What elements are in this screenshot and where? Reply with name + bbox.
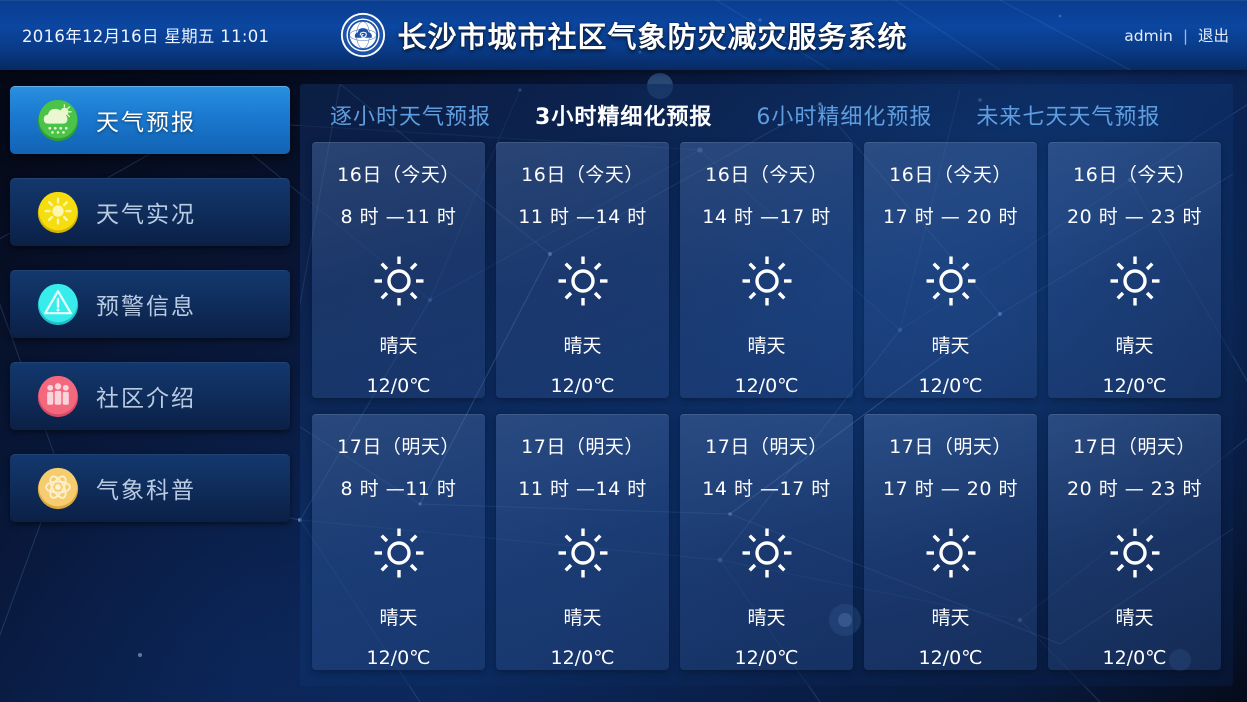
card-temperature: 12/0℃ xyxy=(734,375,798,397)
logout-link[interactable]: 退出 xyxy=(1198,27,1229,45)
sun-icon xyxy=(739,525,795,581)
card-time-range: 20 时 — 23 时 xyxy=(1067,202,1202,229)
forecast-card[interactable]: 17日（明天） 11 时 —14 时 晴天 12/0℃ xyxy=(496,414,669,670)
app-title: 长沙市城市社区气象防灾减灾服务系统 xyxy=(397,14,907,56)
sidebar-item-label: 气象科普 xyxy=(96,471,196,505)
forecast-card[interactable]: 17日（明天） 8 时 —11 时 晴天 12/0℃ xyxy=(312,414,485,670)
card-condition: 晴天 xyxy=(747,331,785,358)
tab-3hour-forecast[interactable]: 3小时精细化预报 xyxy=(513,99,734,131)
sun-icon xyxy=(1107,525,1163,581)
sidebar-item-label: 社区介绍 xyxy=(96,379,196,413)
card-temperature: 12/0℃ xyxy=(1102,375,1166,397)
sidebar-item-meteorology-science[interactable]: 气象科普 xyxy=(10,454,290,522)
sun-icon xyxy=(923,525,979,581)
card-condition: 晴天 xyxy=(1115,603,1153,630)
forecast-card[interactable]: 16日（今天） 17 时 — 20 时 晴天 12/0℃ xyxy=(864,142,1037,398)
card-condition: 晴天 xyxy=(563,331,601,358)
card-time-range: 8 时 —11 时 xyxy=(341,202,457,229)
tab-seven-day-forecast[interactable]: 未来七天天气预报 xyxy=(954,99,1182,131)
sidebar: 天气预报 天气实况 xyxy=(0,70,300,702)
card-date: 16日（今天） xyxy=(889,160,1012,187)
card-time-range: 8 时 —11 时 xyxy=(341,474,457,501)
card-temperature: 12/0℃ xyxy=(918,647,982,669)
card-date: 16日（今天） xyxy=(1073,160,1196,187)
username-label: admin xyxy=(1124,27,1173,45)
cloud-sun-rain-icon xyxy=(36,98,80,142)
sun-icon xyxy=(555,253,611,309)
cma-seal-logo-icon xyxy=(339,12,385,58)
sun-icon xyxy=(1107,253,1163,309)
tab-hourly-forecast[interactable]: 逐小时天气预报 xyxy=(308,99,513,131)
card-condition: 晴天 xyxy=(1115,331,1153,358)
card-condition: 晴天 xyxy=(379,331,417,358)
card-temperature: 12/0℃ xyxy=(366,375,430,397)
sidebar-item-weather-live[interactable]: 天气实况 xyxy=(10,178,290,246)
card-time-range: 11 时 —14 时 xyxy=(518,202,646,229)
warning-triangle-icon xyxy=(36,282,80,326)
forecast-card[interactable]: 17日（明天） 14 时 —17 时 晴天 12/0℃ xyxy=(680,414,853,670)
card-date: 17日（明天） xyxy=(521,432,644,459)
forecast-tabs: 逐小时天气预报 3小时精细化预报 6小时精细化预报 未来七天天气预报 xyxy=(300,84,1233,142)
forecast-row: 16日（今天） 8 时 —11 时 晴天 12/0℃ xyxy=(312,142,1221,398)
sun-icon xyxy=(371,525,427,581)
forecast-card[interactable]: 17日（明天） 20 时 — 23 时 晴天 12/0℃ xyxy=(1048,414,1221,670)
card-time-range: 14 时 —17 时 xyxy=(702,474,830,501)
main-panel: 逐小时天气预报 3小时精细化预报 6小时精细化预报 未来七天天气预报 16日（今… xyxy=(300,84,1233,686)
card-temperature: 12/0℃ xyxy=(1102,647,1166,669)
sidebar-item-weather-forecast[interactable]: 天气预报 xyxy=(10,86,290,154)
card-condition: 晴天 xyxy=(931,331,969,358)
card-temperature: 12/0℃ xyxy=(734,647,798,669)
forecast-card[interactable]: 17日（明天） 17 时 — 20 时 晴天 12/0℃ xyxy=(864,414,1037,670)
app-root: 2016年12月16日 星期五 11:01 长沙市城市社 xyxy=(0,0,1247,702)
card-time-range: 14 时 —17 时 xyxy=(702,202,830,229)
sun-icon xyxy=(923,253,979,309)
sidebar-item-label: 天气实况 xyxy=(96,195,196,229)
card-temperature: 12/0℃ xyxy=(550,647,614,669)
body-wrapper: 天气预报 天气实况 xyxy=(0,70,1247,702)
card-time-range: 17 时 — 20 时 xyxy=(883,202,1018,229)
atom-icon xyxy=(36,466,80,510)
card-temperature: 12/0℃ xyxy=(550,375,614,397)
card-condition: 晴天 xyxy=(379,603,417,630)
card-date: 16日（今天） xyxy=(521,160,644,187)
card-condition: 晴天 xyxy=(563,603,601,630)
card-time-range: 17 时 — 20 时 xyxy=(883,474,1018,501)
card-condition: 晴天 xyxy=(931,603,969,630)
header-datetime: 2016年12月16日 星期五 11:01 xyxy=(22,23,269,47)
card-date: 16日（今天） xyxy=(337,160,460,187)
sidebar-item-label: 预警信息 xyxy=(96,287,196,321)
tab-6hour-forecast[interactable]: 6小时精细化预报 xyxy=(734,99,954,131)
separator: | xyxy=(1183,27,1188,45)
card-temperature: 12/0℃ xyxy=(918,375,982,397)
sun-icon xyxy=(371,253,427,309)
card-temperature: 12/0℃ xyxy=(366,647,430,669)
forecast-card[interactable]: 16日（今天） 14 时 —17 时 晴天 12/0℃ xyxy=(680,142,853,398)
forecast-row: 17日（明天） 8 时 —11 时 晴天 12/0℃ 17日（明天） 11 时 … xyxy=(312,414,1221,670)
forecast-card-grid: 16日（今天） 8 时 —11 时 晴天 12/0℃ xyxy=(300,142,1233,670)
app-header: 2016年12月16日 星期五 11:01 长沙市城市社 xyxy=(0,0,1247,70)
brand: 长沙市城市社区气象防灾减灾服务系统 xyxy=(339,12,907,58)
sidebar-item-warning-info[interactable]: 预警信息 xyxy=(10,270,290,338)
card-date: 16日（今天） xyxy=(705,160,828,187)
card-condition: 晴天 xyxy=(747,603,785,630)
sun-icon xyxy=(36,190,80,234)
card-date: 17日（明天） xyxy=(337,432,460,459)
card-time-range: 20 时 — 23 时 xyxy=(1067,474,1202,501)
forecast-card[interactable]: 16日（今天） 8 时 —11 时 晴天 12/0℃ xyxy=(312,142,485,398)
sun-icon xyxy=(739,253,795,309)
sidebar-item-community-intro[interactable]: 社区介绍 xyxy=(10,362,290,430)
user-account-area: admin | 退出 xyxy=(1124,24,1229,46)
sun-icon xyxy=(555,525,611,581)
card-date: 17日（明天） xyxy=(705,432,828,459)
people-group-icon xyxy=(36,374,80,418)
forecast-card[interactable]: 16日（今天） 20 时 — 23 时 晴天 12/0℃ xyxy=(1048,142,1221,398)
card-date: 17日（明天） xyxy=(1073,432,1196,459)
card-time-range: 11 时 —14 时 xyxy=(518,474,646,501)
forecast-card[interactable]: 16日（今天） 11 时 —14 时 晴天 12/0℃ xyxy=(496,142,669,398)
sidebar-item-label: 天气预报 xyxy=(96,103,196,137)
card-date: 17日（明天） xyxy=(889,432,1012,459)
